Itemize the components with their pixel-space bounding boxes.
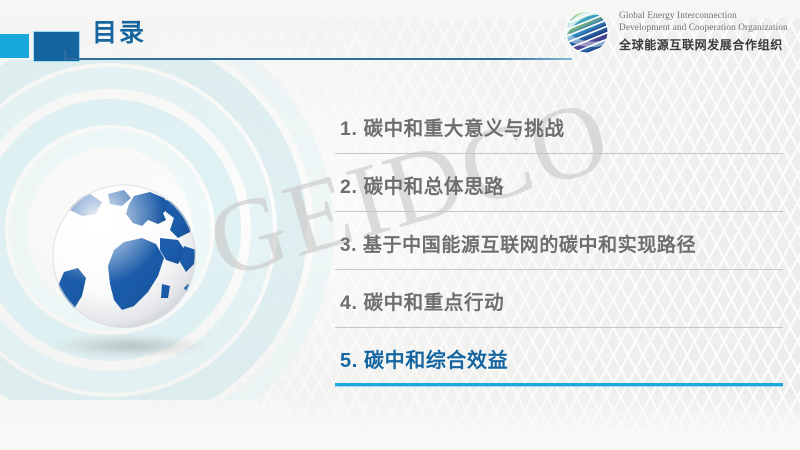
toc-item-label: 4. 碳中和重点行动 — [340, 286, 504, 315]
table-of-contents: 1. 碳中和重大意义与挑战 2. 碳中和总体思路 3. 基于中国能源互联网的碳中… — [335, 96, 783, 386]
toc-item-1[interactable]: 1. 碳中和重大意义与挑战 — [335, 96, 783, 154]
page-title: 目录 — [92, 21, 146, 46]
toc-item-4[interactable]: 4. 碳中和重点行动 — [335, 270, 783, 328]
toc-item-active-underline — [335, 383, 783, 386]
logo-chinese-name: 全球能源互联网发展合作组织 — [619, 36, 788, 53]
logo-english-line-1: Global Energy Interconnection — [619, 11, 788, 23]
toc-item-5[interactable]: 5. 碳中和综合效益 — [335, 328, 783, 386]
slide-canvas: GEIDCO — [0, 0, 800, 450]
globe-3d-image — [38, 180, 223, 380]
header-accent-square-cyan — [0, 34, 29, 58]
toc-item-label: 1. 碳中和重大意义与挑战 — [340, 112, 564, 141]
globe-striped-logo-icon — [561, 8, 613, 56]
organization-logo: Global Energy Interconnection Developmen… — [561, 6, 794, 58]
toc-item-3[interactable]: 3. 基于中国能源互联网的碳中和实现路径 — [335, 212, 783, 270]
toc-item-label: 2. 碳中和总体思路 — [340, 170, 504, 199]
header-divider-line — [66, 58, 572, 60]
toc-item-2[interactable]: 2. 碳中和总体思路 — [335, 154, 783, 212]
toc-item-label: 3. 基于中国能源互联网的碳中和实现路径 — [340, 230, 696, 257]
logo-english-line-2: Development and Cooperation Organization — [619, 23, 788, 35]
toc-item-label: 5. 碳中和综合效益 — [340, 344, 508, 373]
globe-shadow — [52, 335, 208, 357]
